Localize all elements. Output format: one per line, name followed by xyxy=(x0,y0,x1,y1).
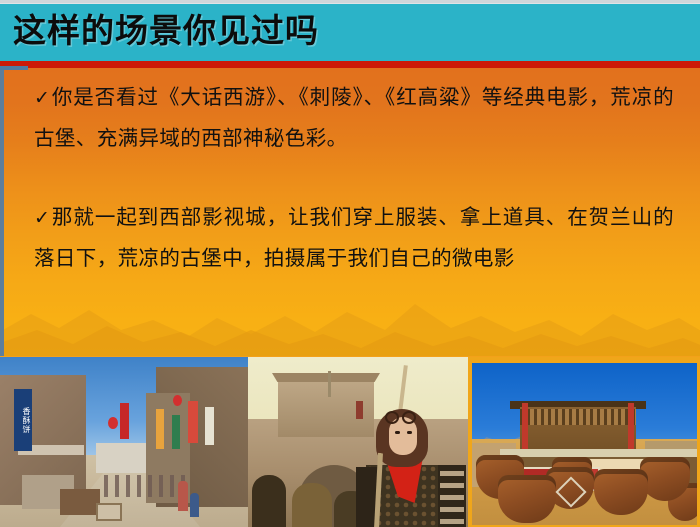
photo1-flag-green xyxy=(172,415,180,449)
check-icon: ✓ xyxy=(34,87,51,109)
photo1-flag-red xyxy=(120,403,129,439)
photo2-helmet-swirl-right xyxy=(402,411,416,424)
slide-top-strip-inner xyxy=(0,0,700,3)
photo3-balcony-railing xyxy=(520,409,636,425)
photo2-helmet-swirl-left xyxy=(385,411,399,424)
photo1-cart xyxy=(96,503,122,521)
paragraph-2: ✓那就一起到西部影视城，让我们穿上服装、拿上道具、在贺兰山的落日下，荒凉的古堡中… xyxy=(34,198,674,280)
body-text: ✓你是否看过《大话西游》、《刺陵》、《红高粱》等经典电影，荒凉的古堡、充满异域的… xyxy=(0,78,700,280)
paragraph-2-text: 那就一起到西部影视城，让我们穿上服装、拿上道具、在贺兰山的落日下，荒凉的古堡中，… xyxy=(34,207,674,270)
photo3-clay-pot-2 xyxy=(498,475,556,523)
photo1-shop-banner: 香酥饼 xyxy=(14,389,32,451)
photo2-soldier-2 xyxy=(292,483,332,527)
mountain-silhouette xyxy=(3,290,700,356)
check-icon: ✓ xyxy=(34,207,51,229)
photo1-stall-2 xyxy=(60,489,100,515)
photo1-flag-white xyxy=(205,407,214,445)
photo-inn-clay-pots: 西部客栈与大陶缸 xyxy=(468,357,700,527)
photo2-soldier-1 xyxy=(252,475,286,527)
slide-header: 这样的场景你见过吗 xyxy=(0,4,700,61)
page-title: 这样的场景你见过吗 xyxy=(13,10,319,54)
photo-strip: 香酥饼 西部影视城街景 xyxy=(0,357,700,527)
photo1-lantern-1 xyxy=(108,417,118,429)
photo2-eye-right xyxy=(407,431,412,434)
photo1-flag-yellow xyxy=(156,409,164,449)
paragraph-1-text: 你是否看过《大话西游》、《刺陵》、《红高粱》等经典电影，荒凉的古堡、充满异域的西… xyxy=(34,87,674,150)
photo1-flag-orange xyxy=(188,401,198,443)
photo-film-set-street: 香酥饼 西部影视城街景 xyxy=(0,357,248,527)
slide: 这样的场景你见过吗 ✓你是否看过《大话西游》、《刺陵》、《红高粱》等经典电影，荒… xyxy=(0,0,700,527)
photo2-armor-studs xyxy=(440,471,464,525)
header-divider xyxy=(0,61,700,68)
photo2-distant-figure xyxy=(356,401,363,419)
photo1-person-1 xyxy=(178,481,188,511)
paragraph-1: ✓你是否看过《大话西游》、《刺陵》、《红高粱》等经典电影，荒凉的古堡、充满异域的… xyxy=(34,78,674,160)
photo1-person-2 xyxy=(190,493,199,517)
photo-armored-warrior: 古堡前身披铠甲的武士 xyxy=(248,357,468,527)
panel-corner-accent xyxy=(0,66,28,70)
photo2-eye-left xyxy=(395,431,400,434)
photo2-mast-small xyxy=(328,371,331,397)
photo2-tower-roof xyxy=(272,373,380,382)
photo1-lantern-2 xyxy=(173,395,182,406)
photo3-image xyxy=(472,363,697,525)
